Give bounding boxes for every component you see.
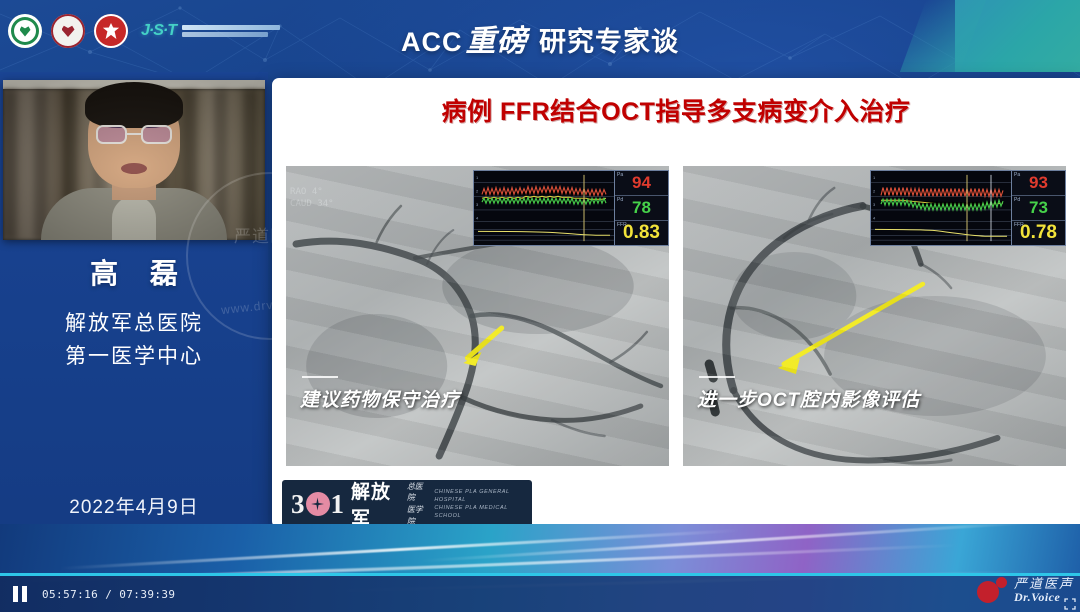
ffr-label-right: FFR xyxy=(1014,222,1024,228)
fullscreen-icon[interactable] xyxy=(1064,598,1076,610)
angiogram-right-caption: 进一步OCT腔内影像评估 xyxy=(697,385,920,412)
ffr-pd-label-right: Pd xyxy=(1014,197,1020,203)
hospital-en2: CHINESE PLA MEDICAL SCHOOL xyxy=(434,504,523,521)
angiogram-right[interactable]: 进一步OCT腔内影像评估 xyxy=(683,166,1066,466)
hospital-footer-logo: 3 1 解放军 总医院 医学院 CHINESE PLA GENERAL HOSP… xyxy=(282,480,532,528)
event-date: 2022年4月9日 xyxy=(0,492,268,519)
ffr-readout-right: 1234 Pa 93 Pd 73 xyxy=(870,170,1066,246)
presenter-affiliation-line2: 第一医学中心 xyxy=(0,341,268,374)
svg-text:CAUD 34°: CAUD 34° xyxy=(290,199,334,209)
ffr-values-right: Pa 93 Pd 73 FFR 0.78 xyxy=(1011,171,1065,245)
hospital-name-cn: 解放军 xyxy=(351,477,400,528)
numeral-1: 1 xyxy=(331,489,345,520)
ffr-pa-value-right: 93 xyxy=(1029,173,1048,193)
hospital-en1: CHINESE PLA GENERAL HOSPITAL xyxy=(434,488,523,505)
page-title: ACC重磅 研究专家谈 xyxy=(0,16,1080,60)
ffr-value-cell-right: FFR 0.78 xyxy=(1012,221,1065,245)
ffr-pd-label-left: Pd xyxy=(617,197,623,203)
svg-text:1: 1 xyxy=(476,175,478,180)
hospital-sub1: 总医院 xyxy=(407,481,427,504)
ffr-waveform-right: 1234 xyxy=(871,171,1011,245)
hospital-subname-cn: 总医院 医学院 xyxy=(407,481,427,527)
ffr-pd-cell-left: Pd 78 xyxy=(615,196,668,221)
svg-text:4: 4 xyxy=(873,216,876,221)
hospital-301-numeral: 3 1 xyxy=(291,489,344,520)
ffr-pa-value-left: 94 xyxy=(632,173,651,193)
slide-title: 病例 FFR结合OCT指导多支病变介入治疗 xyxy=(272,92,1080,128)
numeral-3: 3 xyxy=(291,489,305,520)
presenter-name: 高 磊 xyxy=(0,252,268,292)
svg-text:RAO 4°: RAO 4° xyxy=(290,187,323,197)
ffr-label-left: FFR xyxy=(617,222,627,228)
svg-text:2: 2 xyxy=(476,188,478,193)
presentation-slide[interactable]: 病例 FFR结合OCT指导多支病变介入治疗 xyxy=(272,78,1080,528)
header-title-cursive: 重磅 xyxy=(462,24,530,59)
playback-time: 05:57:16 / 07:39:39 xyxy=(42,588,175,601)
yellow-arrow-lesion xyxy=(463,328,501,366)
svg-text:4: 4 xyxy=(476,216,479,221)
svg-text:1: 1 xyxy=(873,175,875,180)
video-player-bar[interactable]: 05:57:16 / 07:39:39 xyxy=(0,576,1080,612)
svg-text:2: 2 xyxy=(873,188,875,193)
presenter-info: 高 磊 解放军总医院 第一医学中心 xyxy=(0,252,268,373)
ffr-pa-cell-left: Pa 94 xyxy=(615,171,668,196)
broadcast-stage: J·S·T ACC重磅 研究专家谈 xyxy=(0,0,1080,612)
ffr-readout-left: 1234 Pa 94 Pd 78 xyxy=(473,170,669,246)
compass-rose-icon xyxy=(306,492,330,516)
ffr-waveform-left: 1234 xyxy=(474,171,614,245)
ffr-pd-cell-right: Pd 73 xyxy=(1012,196,1065,221)
svg-text:3: 3 xyxy=(873,202,876,207)
ffr-value-left: 0.83 xyxy=(623,222,660,244)
yellow-arrow-lesion xyxy=(778,284,923,374)
angiogram-left[interactable]: RAO 4° CAUD 34° 建议药物保守治疗 xyxy=(286,166,669,466)
ffr-values-left: Pa 94 Pd 78 FFR 0.83 xyxy=(614,171,668,245)
ffr-value-cell-left: FFR 0.83 xyxy=(615,221,668,245)
svg-text:3: 3 xyxy=(476,202,479,207)
angiogram-row: RAO 4° CAUD 34° 建议药物保守治疗 xyxy=(272,166,1080,466)
angiogram-left-caption: 建议药物保守治疗 xyxy=(300,385,460,412)
ffr-value-right: 0.78 xyxy=(1020,222,1057,244)
presenter-affiliation-line1: 解放军总医院 xyxy=(0,308,268,341)
drvoice-mark-icon xyxy=(977,577,1007,603)
ffr-pa-cell-right: Pa 93 xyxy=(1012,171,1065,196)
header-bar: J·S·T ACC重磅 研究专家谈 xyxy=(0,0,1080,72)
drvoice-cn: 严道医声 xyxy=(1014,577,1074,591)
header-title-suffix: 研究专家谈 xyxy=(539,27,679,57)
hospital-name-en: CHINESE PLA GENERAL HOSPITAL CHINESE PLA… xyxy=(434,488,523,521)
presenter-webcam-video[interactable] xyxy=(3,80,265,240)
pause-icon[interactable] xyxy=(13,586,28,602)
webcam-vignette xyxy=(3,80,265,240)
header-title-prefix: ACC xyxy=(401,27,463,57)
ffr-pd-value-left: 78 xyxy=(632,198,651,218)
ffr-pd-value-right: 73 xyxy=(1029,198,1048,218)
ffr-pa-label-right: Pa xyxy=(1014,172,1020,178)
drvoice-brand-logo: 严道医声 Dr.Voice xyxy=(977,577,1074,604)
ffr-pa-label-left: Pa xyxy=(617,172,623,178)
